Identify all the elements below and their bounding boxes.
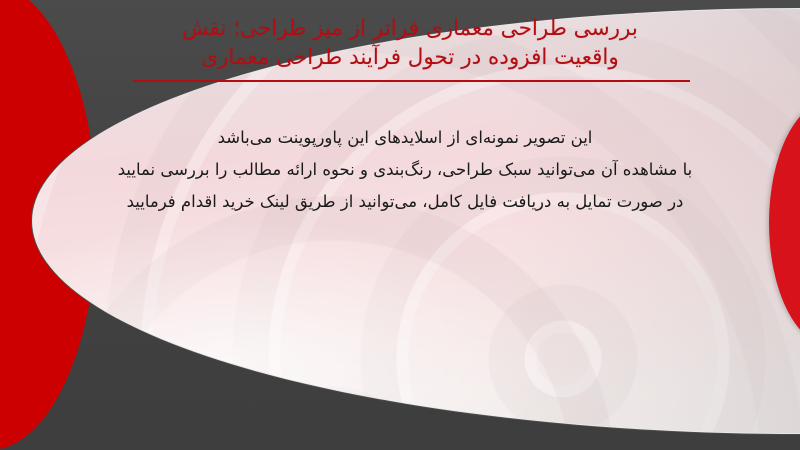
slide-title: بررسی طراحی معماری فراتر از میز طراحی؛ ن… xyxy=(60,14,760,72)
slide-body-line-3: در صورت تمایل به دریافت فایل کامل، می‌تو… xyxy=(55,186,755,218)
title-underline-rule xyxy=(133,80,690,82)
slide-text-content: بررسی طراحی معماری فراتر از میز طراحی؛ ن… xyxy=(0,0,800,450)
slide-title-line-2: واقعیت افزوده در تحول فرآیند طراحی معمار… xyxy=(60,43,760,72)
slide-body-line-2: با مشاهده آن می‌توانید سبک طراحی، رنگ‌بن… xyxy=(55,154,755,186)
slide-body-line-1: این تصویر نمونه‌ای از اسلایدهای این پاور… xyxy=(55,122,755,154)
presentation-slide: بررسی طراحی معماری فراتر از میز طراحی؛ ن… xyxy=(0,0,800,450)
slide-title-line-1: بررسی طراحی معماری فراتر از میز طراحی؛ ن… xyxy=(60,14,760,43)
slide-body-text: این تصویر نمونه‌ای از اسلایدهای این پاور… xyxy=(55,122,755,218)
